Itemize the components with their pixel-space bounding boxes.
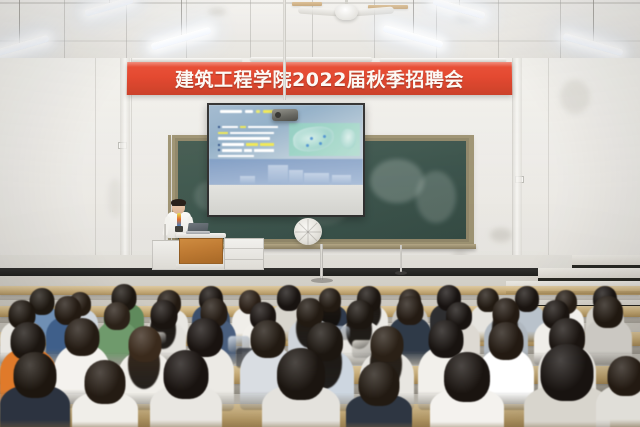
lectern-front-panel — [179, 238, 223, 264]
audience-head — [541, 344, 594, 401]
audience-head — [359, 362, 400, 406]
fluorescent-tube-light — [18, 0, 20, 46]
audience-member — [430, 352, 504, 427]
audience-head — [85, 360, 126, 404]
audience-member — [596, 356, 640, 427]
fluorescent-tube-light — [592, 0, 594, 44]
banner-glare — [127, 62, 512, 67]
laptop-keyboard — [186, 231, 210, 234]
audience-member — [262, 348, 340, 427]
ceiling-projector — [272, 95, 298, 121]
fluorescent-tube-light — [108, 0, 110, 6]
fluorescent-tube-light — [412, 0, 414, 36]
laptop[interactable] — [186, 223, 210, 235]
audience-head — [277, 348, 325, 400]
ceiling — [0, 0, 640, 62]
lecture-hall-photo: 建筑工程学院2022届秋季招聘会 — [0, 0, 640, 427]
slide-bullets — [218, 126, 295, 161]
audience-head — [444, 352, 490, 402]
projector-lens — [275, 112, 281, 118]
screen-blank-area — [209, 185, 363, 215]
audience-member — [150, 350, 222, 427]
audience-head — [151, 300, 178, 329]
audience-head — [371, 326, 404, 362]
lectern — [178, 233, 224, 270]
audience-head — [608, 356, 640, 396]
audience-head — [593, 296, 623, 328]
pedestal-fan — [303, 218, 339, 284]
screen-surface — [209, 105, 363, 215]
china-map — [292, 125, 335, 153]
id-badge — [175, 226, 183, 232]
audience-head — [65, 318, 100, 356]
audience-member — [72, 360, 138, 427]
china-map-panel — [289, 123, 360, 157]
event-banner: 建筑工程学院2022届秋季招聘会 — [127, 62, 512, 95]
audience-member — [0, 352, 70, 427]
banner-title: 建筑工程学院2022届秋季招聘会 — [175, 65, 464, 92]
china-map-inset — [338, 128, 357, 151]
side-cabinet-right — [224, 238, 264, 270]
ceiling-fan — [300, 0, 392, 24]
audience-member — [346, 362, 412, 427]
slide-photo-strip — [209, 159, 363, 185]
fan-head — [294, 218, 322, 245]
lanyard — [177, 213, 181, 227]
wall-pillar-right — [512, 58, 522, 273]
fluorescent-tube-light — [458, 0, 460, 8]
fluorescent-tube-light — [180, 0, 182, 38]
audience-head — [164, 350, 209, 399]
projector-mount — [283, 0, 286, 100]
audience-head — [14, 352, 57, 398]
floor-microphone-stand — [395, 245, 407, 275]
